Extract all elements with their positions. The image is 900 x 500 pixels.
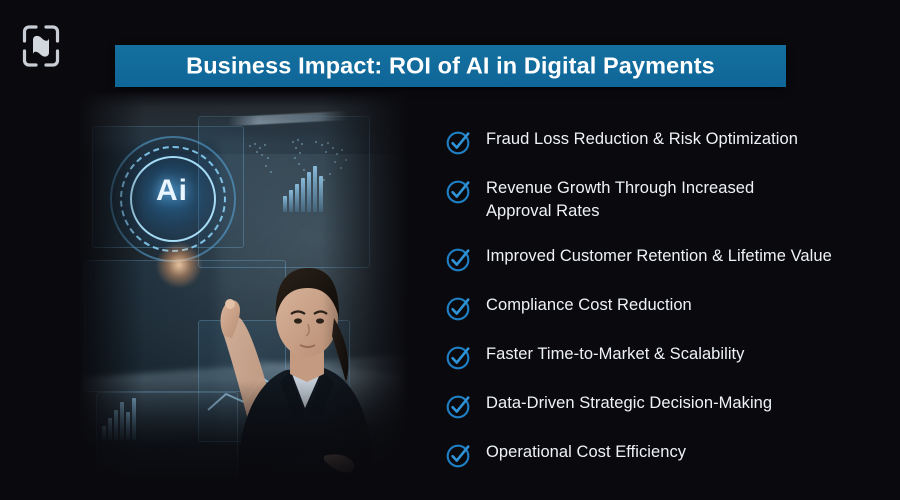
hud-bar (126, 412, 130, 440)
check-circle-icon (446, 129, 472, 155)
list-item-label: Revenue Growth Through Increased Approva… (486, 177, 786, 223)
logo-glyph (33, 36, 49, 57)
hud-bar (114, 410, 118, 440)
list-item: Faster Time-to-Market & Scalability (446, 343, 876, 370)
hud-bar (120, 402, 124, 440)
check-circle-icon (446, 295, 472, 321)
hud-bar (102, 426, 106, 440)
hero-photo: Ai (78, 92, 408, 482)
list-item-label: Improved Customer Retention & Lifetime V… (486, 245, 832, 268)
list-item: Revenue Growth Through Increased Approva… (446, 177, 876, 223)
list-item: Operational Cost Efficiency (446, 441, 876, 468)
page-title: Business Impact: ROI of AI in Digital Pa… (115, 54, 786, 78)
photo-scene: Ai (78, 92, 408, 482)
list-item-label: Compliance Cost Reduction (486, 294, 692, 317)
list-item-label: Data-Driven Strategic Decision-Making (486, 392, 772, 415)
check-circle-icon (446, 442, 472, 468)
list-item-label: Operational Cost Efficiency (486, 441, 686, 464)
list-item-label: Fraud Loss Reduction & Risk Optimization (486, 128, 798, 151)
person-figure (174, 168, 404, 482)
brand-logo (22, 24, 60, 68)
hud-bar (108, 418, 112, 440)
list-item: Fraud Loss Reduction & Risk Optimization (446, 128, 876, 155)
list-item: Compliance Cost Reduction (446, 294, 876, 321)
check-circle-icon (446, 246, 472, 272)
list-item-label: Faster Time-to-Market & Scalability (486, 343, 744, 366)
slide-canvas: Business Impact: ROI of AI in Digital Pa… (0, 0, 900, 500)
benefits-list: Fraud Loss Reduction & Risk Optimization… (446, 128, 876, 468)
hud-bar (132, 398, 136, 440)
check-circle-icon (446, 178, 472, 204)
list-item: Data-Driven Strategic Decision-Making (446, 392, 876, 419)
check-circle-icon (446, 344, 472, 370)
list-item: Improved Customer Retention & Lifetime V… (446, 245, 876, 272)
title-banner: Business Impact: ROI of AI in Digital Pa… (115, 45, 786, 87)
check-circle-icon (446, 393, 472, 419)
